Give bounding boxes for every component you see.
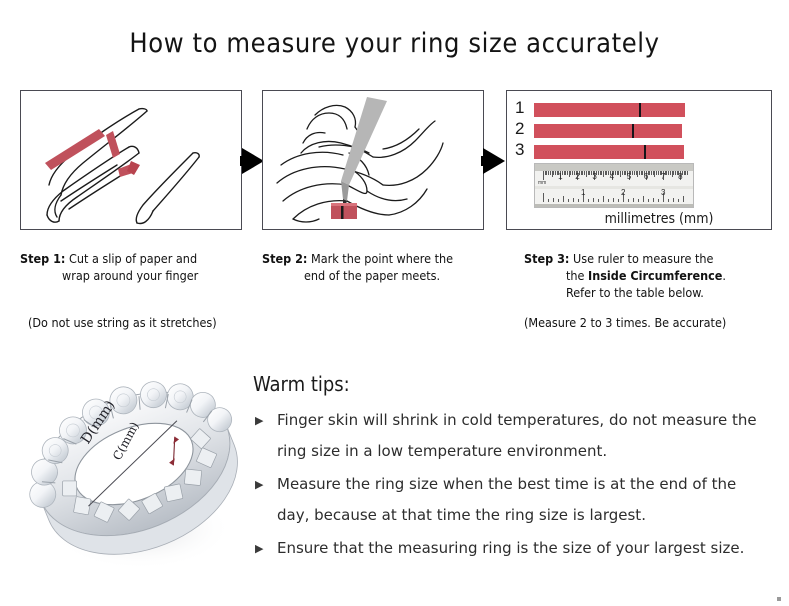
- warm-tips-heading: Warm tips:: [253, 372, 350, 396]
- step-3-line-3: Refer to the table below.: [524, 284, 779, 301]
- step-2-line-2: end of the paper meets.: [262, 267, 502, 284]
- step-1-note: (Do not use string as it stretches): [28, 315, 217, 330]
- strip-3-bar: [534, 145, 684, 159]
- ruler-cm-label: 1: [558, 173, 562, 181]
- ruler-cm-label: 3: [592, 173, 596, 181]
- strip-2-number: 2: [515, 120, 531, 137]
- step-1-line-2: wrap around your finger: [20, 267, 255, 284]
- step-3-line-2-pre: the: [566, 268, 588, 283]
- ruler-graphic: mm 12345678 123: [534, 163, 694, 208]
- step-3-line-2-post: .: [722, 268, 726, 283]
- strip-3-tick-mark: [644, 145, 646, 159]
- arrow-step1-to-step2: [242, 148, 264, 174]
- ruler-cm-label: 6: [644, 173, 648, 181]
- ruler-cm-label: 5: [627, 173, 631, 181]
- step-1-lead: Step 1:: [20, 251, 65, 266]
- ruler-cm-label: 2: [575, 173, 579, 181]
- bullet-triangle-icon: ▶: [255, 533, 263, 564]
- warm-tips-list: ▶Finger skin will shrink in cold tempera…: [253, 405, 773, 566]
- step-3-illustration-panel: 1 2 3 mm 12345678 123 millimetres (mm): [506, 90, 772, 230]
- ruler-inch-label: 2: [621, 189, 625, 197]
- step-1-line-1: Cut a slip of paper and: [69, 251, 197, 266]
- strip-2-bar: [534, 124, 682, 138]
- warm-tip-text: Measure the ring size when the best time…: [277, 475, 736, 524]
- step-3-line-1: Use ruler to measure the: [573, 251, 713, 266]
- bullet-triangle-icon: ▶: [255, 405, 263, 436]
- step-3-lead: Step 3:: [524, 251, 569, 266]
- warm-tip-text: Finger skin will shrink in cold temperat…: [277, 411, 757, 460]
- strip-3-number: 3: [515, 141, 531, 158]
- corner-artifact: [777, 597, 781, 601]
- ruler-inch-label: 3: [661, 189, 665, 197]
- ruler-top-band: [535, 164, 693, 171]
- page-title: How to measure your ring size accurately: [0, 28, 789, 59]
- step-2-caption: Step 2: Mark the point where the end of …: [262, 250, 502, 284]
- ruler-middle-band: [535, 186, 693, 189]
- step-3-note: (Measure 2 to 3 times. Be accurate): [524, 315, 726, 330]
- ruler-cm-label: 4: [610, 173, 614, 181]
- step-2-line-1: Mark the point where the: [311, 251, 453, 266]
- ruler-cm-label: 7: [661, 173, 665, 181]
- step-2-lead: Step 2:: [262, 251, 307, 266]
- step-3-line-2: the Inside Circumference.: [524, 267, 779, 284]
- ruler-caption: millimetres (mm): [507, 211, 772, 227]
- ruler-unit-mark: mm: [538, 180, 546, 186]
- strip-1-bar: [534, 103, 685, 117]
- hand-with-paper-strip-drawing: [21, 91, 240, 228]
- strip-2-tick-mark: [632, 124, 634, 138]
- ring-diagram-drawing: [22, 352, 252, 587]
- strip-1-number: 1: [515, 99, 531, 116]
- ring-product-photo: D(mm) C(mm): [22, 352, 252, 587]
- warm-tip-item: ▶Ensure that the measuring ring is the s…: [253, 533, 773, 564]
- ruler-bottom-band: [535, 204, 693, 208]
- warm-tip-text: Ensure that the measuring ring is the si…: [277, 539, 744, 557]
- arrow-step2-to-step3: [483, 148, 505, 174]
- step-1-caption: Step 1: Cut a slip of paper and wrap aro…: [20, 250, 255, 284]
- bullet-triangle-icon: ▶: [255, 469, 263, 500]
- warm-tip-item: ▶Finger skin will shrink in cold tempera…: [253, 405, 773, 467]
- step-2-illustration-panel: [262, 90, 484, 230]
- ruler-inch-label: 1: [581, 189, 585, 197]
- strip-1-tick-mark: [639, 103, 641, 117]
- step-3-emphasis-inside-circumference: Inside Circumference: [588, 268, 722, 283]
- ruler-cm-label: 8: [678, 173, 682, 181]
- warm-tip-item: ▶Measure the ring size when the best tim…: [253, 469, 773, 531]
- step-3-caption: Step 3: Use ruler to measure the the Ins…: [524, 250, 779, 301]
- hand-marking-paper-with-pen-drawing: [263, 91, 482, 228]
- step-1-illustration-panel: [20, 90, 242, 230]
